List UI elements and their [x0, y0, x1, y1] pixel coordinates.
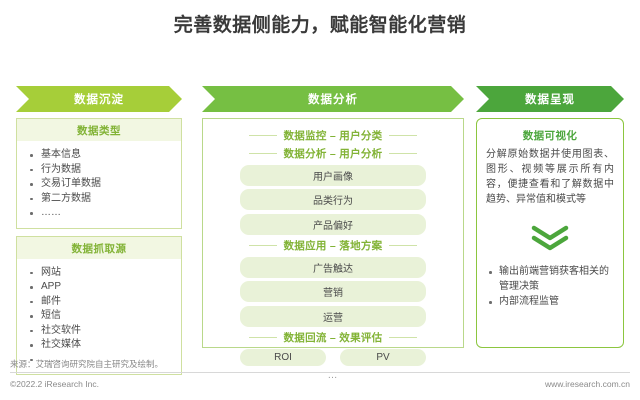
list-item: ……	[27, 206, 175, 221]
banner-data-presentation: 数据呈现	[476, 86, 624, 112]
list-item: 第二方数据	[27, 192, 175, 207]
list-item: 社交软件	[27, 324, 175, 339]
list-item: 短信	[27, 309, 175, 324]
banner-label: 数据呈现	[525, 91, 575, 107]
banner-data-analysis: 数据分析	[202, 86, 464, 112]
section-label: 数据应用 – 落地方案	[284, 238, 383, 253]
section-header-data-application: 数据应用 – 落地方案	[213, 238, 453, 253]
copyright-text: ©2022.2 iResearch Inc.	[10, 379, 99, 389]
banner-data-accumulation: 数据沉淀	[16, 86, 182, 112]
column-data-analysis: 数据监控 – 用户分类 数据分析 – 用户分析 用户画像 品类行为 产品偏好 数…	[202, 118, 464, 348]
pill-item[interactable]: 产品偏好	[240, 214, 426, 235]
pill-item[interactable]: 运营	[240, 306, 426, 327]
source-note: 来源：艾瑞咨询研究院自主研究及绘制。	[10, 358, 163, 370]
section-header-data-feedback: 数据回流 – 效果评估	[213, 330, 453, 345]
banner-label: 数据分析	[308, 91, 358, 107]
website-url: www.iresearch.com.cn	[545, 379, 630, 389]
column-data-accumulation: 数据类型 基本信息 行为数据 交易订单数据 第二方数据 …… 数据抓取源 网站	[16, 118, 182, 382]
infographic-page: 完善数据侧能力，赋能智能化营销 数据沉淀 数据分析 数据呈现 数据类型 基本信息…	[0, 0, 640, 400]
list-item: 基本信息	[27, 148, 175, 163]
three-column-board: 数据沉淀 数据分析 数据呈现 数据类型 基本信息 行为数据 交易订单数据 第二方…	[16, 86, 624, 348]
visualization-description: 分解原始数据并使用图表、图形、视频等展示所有内容，便捷查看和了解数据中趋势、异常…	[486, 147, 614, 207]
pill-item[interactable]: 用户画像	[240, 165, 426, 186]
data-types-list: 基本信息 行为数据 交易订单数据 第二方数据 ……	[27, 148, 175, 221]
list-item: 社交媒体	[27, 338, 175, 353]
section-header-data-monitoring: 数据监控 – 用户分类	[213, 128, 453, 143]
section-label: 数据回流 – 效果评估	[284, 330, 383, 345]
visualization-title: 数据可视化	[486, 128, 614, 143]
box-header: 数据抓取源	[17, 237, 181, 259]
rule-right	[389, 153, 417, 155]
page-title: 完善数据侧能力，赋能智能化营销	[0, 10, 640, 37]
list-item: 行为数据	[27, 163, 175, 178]
rule-left	[249, 337, 277, 339]
box-header: 数据类型	[17, 119, 181, 141]
column-data-presentation: 数据可视化 分解原始数据并使用图表、图形、视频等展示所有内容，便捷查看和了解数据…	[476, 118, 624, 348]
section-label: 数据分析 – 用户分析	[284, 146, 383, 161]
pill-item-roi[interactable]: ROI	[240, 349, 326, 366]
data-sources-list: 网站 APP 邮件 短信 社交软件 社交媒体 ……	[27, 266, 175, 368]
rule-left	[249, 153, 277, 155]
list-item: 邮件	[27, 295, 175, 310]
list-item: 网站	[27, 266, 175, 281]
section-header-user-analysis: 数据分析 – 用户分析	[213, 146, 453, 161]
double-chevron-down-icon	[486, 225, 614, 251]
rule-left	[249, 245, 277, 247]
list-item: 交易订单数据	[27, 177, 175, 192]
rule-right	[389, 245, 417, 247]
box-data-sources: 数据抓取源 网站 APP 邮件 短信 社交软件 社交媒体 ……	[16, 236, 182, 376]
box-body: 网站 APP 邮件 短信 社交软件 社交媒体 ……	[17, 259, 181, 375]
box-body: 基本信息 行为数据 交易订单数据 第二方数据 ……	[17, 141, 181, 228]
rule-left	[249, 135, 277, 137]
pill-item[interactable]: 广告触达	[240, 257, 426, 278]
pill-item[interactable]: 品类行为	[240, 189, 426, 210]
pill-item[interactable]: 营销	[240, 281, 426, 302]
list-item: 内部流程监管	[486, 295, 614, 310]
pill-item-pv[interactable]: PV	[340, 349, 426, 366]
footer-divider	[10, 372, 630, 373]
rule-right	[389, 337, 417, 339]
box-data-types: 数据类型 基本信息 行为数据 交易订单数据 第二方数据 ……	[16, 118, 182, 229]
list-item: APP	[27, 280, 175, 295]
rule-right	[389, 135, 417, 137]
section-label: 数据监控 – 用户分类	[284, 128, 383, 143]
banner-label: 数据沉淀	[74, 91, 124, 107]
pill-row-metrics: ROI PV	[213, 349, 453, 366]
list-item: 输出前端营销获客相关的管理决策	[486, 265, 614, 294]
presentation-outcome-list: 输出前端营销获客相关的管理决策 内部流程监管	[486, 265, 614, 310]
